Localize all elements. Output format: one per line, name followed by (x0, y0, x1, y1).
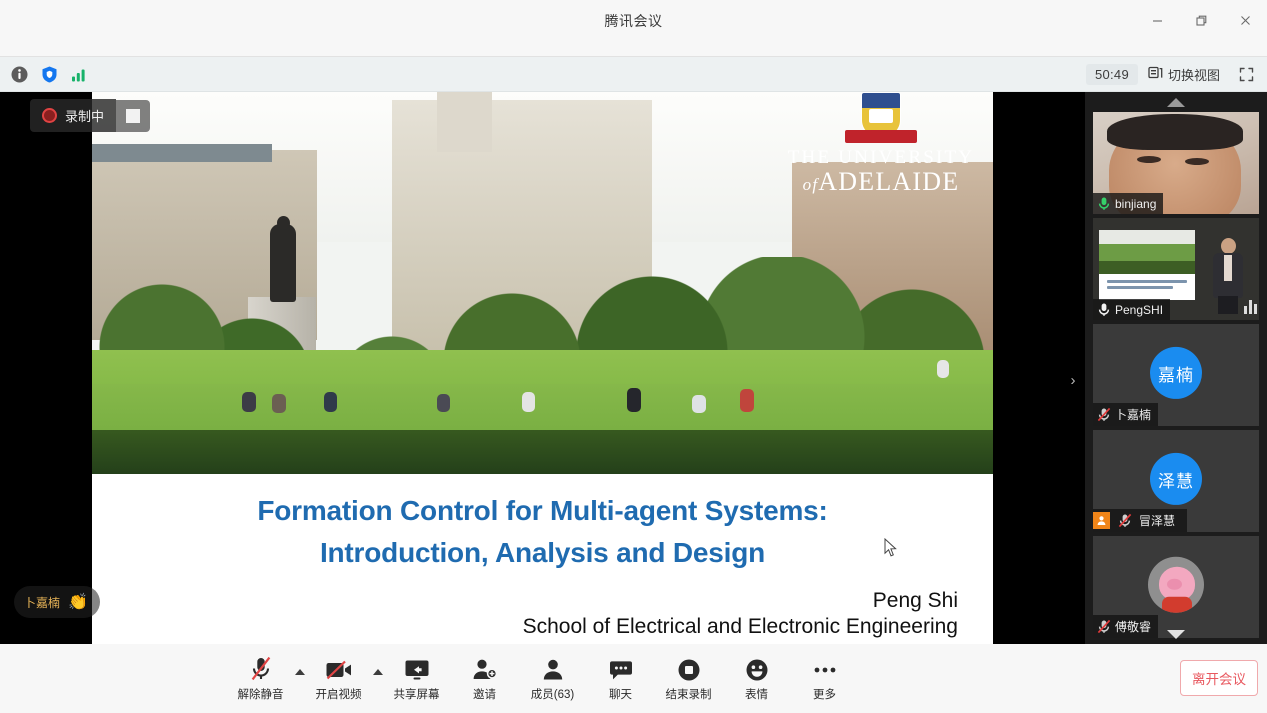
eye-left (1137, 156, 1161, 163)
tencent-meeting-window: 腾讯会议 (0, 0, 1267, 713)
meeting-toolbar: 50:49 切换视图 (0, 57, 1267, 92)
chat-bubble-icon (608, 656, 634, 682)
shield-icon[interactable] (40, 65, 59, 84)
photo-person (242, 392, 256, 412)
info-icon[interactable] (10, 65, 29, 84)
share-screen-button[interactable]: 共享屏幕 (383, 648, 451, 710)
crest-ribbon (845, 130, 917, 143)
photo-person (692, 395, 706, 413)
reaction-user-name: 卜嘉楠 (24, 594, 60, 611)
reaction-toast: 卜嘉楠 👏 (14, 586, 100, 618)
members-label: 成员(63) (531, 686, 574, 702)
eye-right (1185, 158, 1209, 165)
logo-line-1: THE UNIVERSITY (781, 147, 981, 169)
emoji-label: 表情 (745, 686, 768, 702)
slide-affiliation: School of Electrical and Electronic Engi… (92, 614, 958, 640)
slide-thumb-title-line-2 (1107, 286, 1173, 289)
meeting-timer: 50:49 (1086, 64, 1138, 85)
photo-person (522, 392, 535, 412)
slide-title: Formation Control for Multi-agent System… (92, 474, 993, 574)
slide-author-name: Peng Shi (92, 588, 958, 614)
title-bar: 腾讯会议 (0, 0, 1267, 57)
presenter-head (1221, 238, 1236, 254)
scroll-down-arrow-icon (1167, 630, 1185, 639)
avatar: 泽慧 (1150, 453, 1202, 505)
participant-name: 冒泽慧 (1139, 512, 1180, 529)
stop-record-icon (677, 656, 701, 682)
share-screen-label: 共享屏幕 (394, 686, 440, 702)
members-button[interactable]: 成员(63) (519, 648, 587, 710)
close-button[interactable] (1223, 0, 1267, 40)
emoji-smile-icon (745, 656, 769, 682)
shared-content-stage: THE UNIVERSITY ofADELAIDE Formation Cont… (0, 92, 1085, 644)
participant-name: binjiang (1115, 197, 1156, 211)
start-video-label: 开启视频 (316, 686, 362, 702)
switch-view-icon (1148, 66, 1163, 83)
window-title: 腾讯会议 (605, 11, 663, 31)
participant-tile-bujianan[interactable]: 嘉楠 卜嘉楠 (1093, 324, 1259, 426)
participant-name-chip: 卜嘉楠 (1093, 403, 1158, 426)
slide-title-line-1: Formation Control for Multi-agent System… (92, 490, 993, 532)
photo-person (627, 388, 641, 412)
photo-person (324, 392, 337, 412)
unmute-button[interactable]: 解除静音 (227, 648, 295, 710)
photo-person (937, 360, 949, 378)
host-badge-icon (1093, 512, 1110, 529)
scroll-up-arrow-icon (1167, 98, 1185, 107)
photo-hedge-lower (92, 430, 993, 474)
slide-text-area: Formation Control for Multi-agent System… (92, 474, 993, 644)
adelaide-university-logo: THE UNIVERSITY ofADELAIDE (781, 92, 981, 212)
photo-building-left-roof (92, 144, 272, 162)
members-icon (541, 656, 565, 682)
hair-region (1107, 114, 1243, 150)
presentation-slide[interactable]: THE UNIVERSITY ofADELAIDE Formation Cont… (92, 92, 993, 644)
avatar: 嘉楠 (1150, 347, 1202, 399)
photo-person (437, 394, 450, 412)
emoji-button[interactable]: 表情 (723, 648, 791, 710)
avatar-image-body (1162, 597, 1192, 613)
stop-recording-button[interactable] (116, 100, 150, 132)
chat-label: 聊天 (609, 686, 632, 702)
stop-recording-label: 结束录制 (666, 686, 712, 702)
toolbar-status-icons (0, 65, 89, 84)
restore-button[interactable] (1179, 0, 1223, 40)
slide-title-line-2: Introduction, Analysis and Design (92, 532, 993, 574)
participant-name: PengSHI (1115, 303, 1163, 317)
start-video-button[interactable]: 开启视频 (305, 648, 373, 710)
collapse-sidebar-button[interactable]: › (1063, 362, 1083, 398)
invite-button[interactable]: 邀请 (451, 648, 519, 710)
slide-thumb-title-line-1 (1107, 280, 1187, 283)
share-screen-icon (403, 656, 431, 682)
control-buttons: 解除静音 开启视频 (0, 644, 1085, 713)
participant-tile-pengshi[interactable]: PengSHI (1093, 218, 1259, 320)
slide-thumb-photo (1099, 230, 1195, 274)
stop-recording-control[interactable]: 结束录制 (655, 648, 723, 710)
participant-sidebar: binjiang (1085, 92, 1267, 644)
participant-name: 卜嘉楠 (1115, 406, 1151, 423)
meeting-control-bar: 解除静音 开启视频 (0, 644, 1267, 713)
audio-level-bars-icon (1244, 300, 1257, 314)
logo-adelaide-text: ADELAIDE (818, 167, 959, 196)
logo-line-2: ofADELAIDE (781, 167, 981, 197)
presenter-legs (1218, 296, 1238, 314)
record-dot-icon (42, 108, 57, 123)
recording-badge: 录制中 (30, 99, 150, 132)
more-dots-icon (812, 656, 838, 682)
switch-view-label: 切换视图 (1168, 65, 1220, 84)
participant-tile-binjiang[interactable]: binjiang (1093, 112, 1259, 214)
logo-of-text: of (803, 175, 819, 194)
toolbar-right-group: 50:49 切换视图 (1086, 57, 1263, 92)
leave-meeting-button[interactable]: 离开会议 (1180, 660, 1258, 696)
mic-unmuted-icon (1097, 302, 1111, 317)
participant-name-chip: 冒泽慧 (1093, 509, 1187, 532)
camera-off-icon (325, 656, 353, 682)
more-label: 更多 (813, 686, 836, 702)
presenter-figure (1213, 238, 1243, 314)
clap-emoji-icon: 👏 (68, 592, 88, 612)
avatar-image-detail (1167, 579, 1182, 590)
slide-photo: THE UNIVERSITY ofADELAIDE (92, 92, 993, 474)
participant-tile-fujingrui[interactable]: 傅敬睿 (1093, 536, 1259, 638)
unmute-label: 解除静音 (238, 686, 284, 702)
signal-icon[interactable] (70, 65, 89, 84)
photo-tower (437, 92, 492, 152)
avatar (1148, 557, 1204, 613)
stop-square-icon (126, 109, 140, 123)
minimize-button[interactable] (1135, 0, 1179, 40)
photo-statue-head (277, 216, 290, 230)
participant-tile-maozehui[interactable]: 泽慧 (1093, 430, 1259, 532)
mouse-cursor (884, 538, 898, 563)
photo-person (740, 389, 754, 412)
recording-label: 录制中 (65, 106, 104, 125)
mic-muted-icon (1118, 513, 1132, 528)
slide-author-block: Peng Shi School of Electrical and Electr… (92, 588, 993, 641)
sidebar-scroll-up-button[interactable] (1085, 92, 1267, 112)
window-controls (1135, 0, 1267, 40)
chat-button[interactable]: 聊天 (587, 648, 655, 710)
switch-view-button[interactable]: 切换视图 (1140, 61, 1228, 88)
invite-label: 邀请 (473, 686, 496, 702)
participant-name-chip: binjiang (1093, 193, 1163, 214)
mic-muted-icon (249, 656, 273, 682)
mic-unmuted-icon (1097, 196, 1111, 211)
fullscreen-icon[interactable] (1230, 63, 1263, 86)
avatar-image (1159, 567, 1195, 601)
sidebar-scroll-down-button[interactable] (1085, 624, 1267, 644)
presenter-shirt (1224, 255, 1232, 281)
photo-person (272, 394, 286, 413)
more-button[interactable]: 更多 (791, 648, 859, 710)
slide-in-video (1099, 230, 1195, 300)
mic-muted-icon (1097, 407, 1111, 422)
participant-name-chip: PengSHI (1093, 299, 1170, 320)
recording-indicator: 录制中 (30, 99, 116, 132)
participant-tiles: binjiang (1085, 112, 1267, 624)
invite-person-icon (472, 656, 498, 682)
